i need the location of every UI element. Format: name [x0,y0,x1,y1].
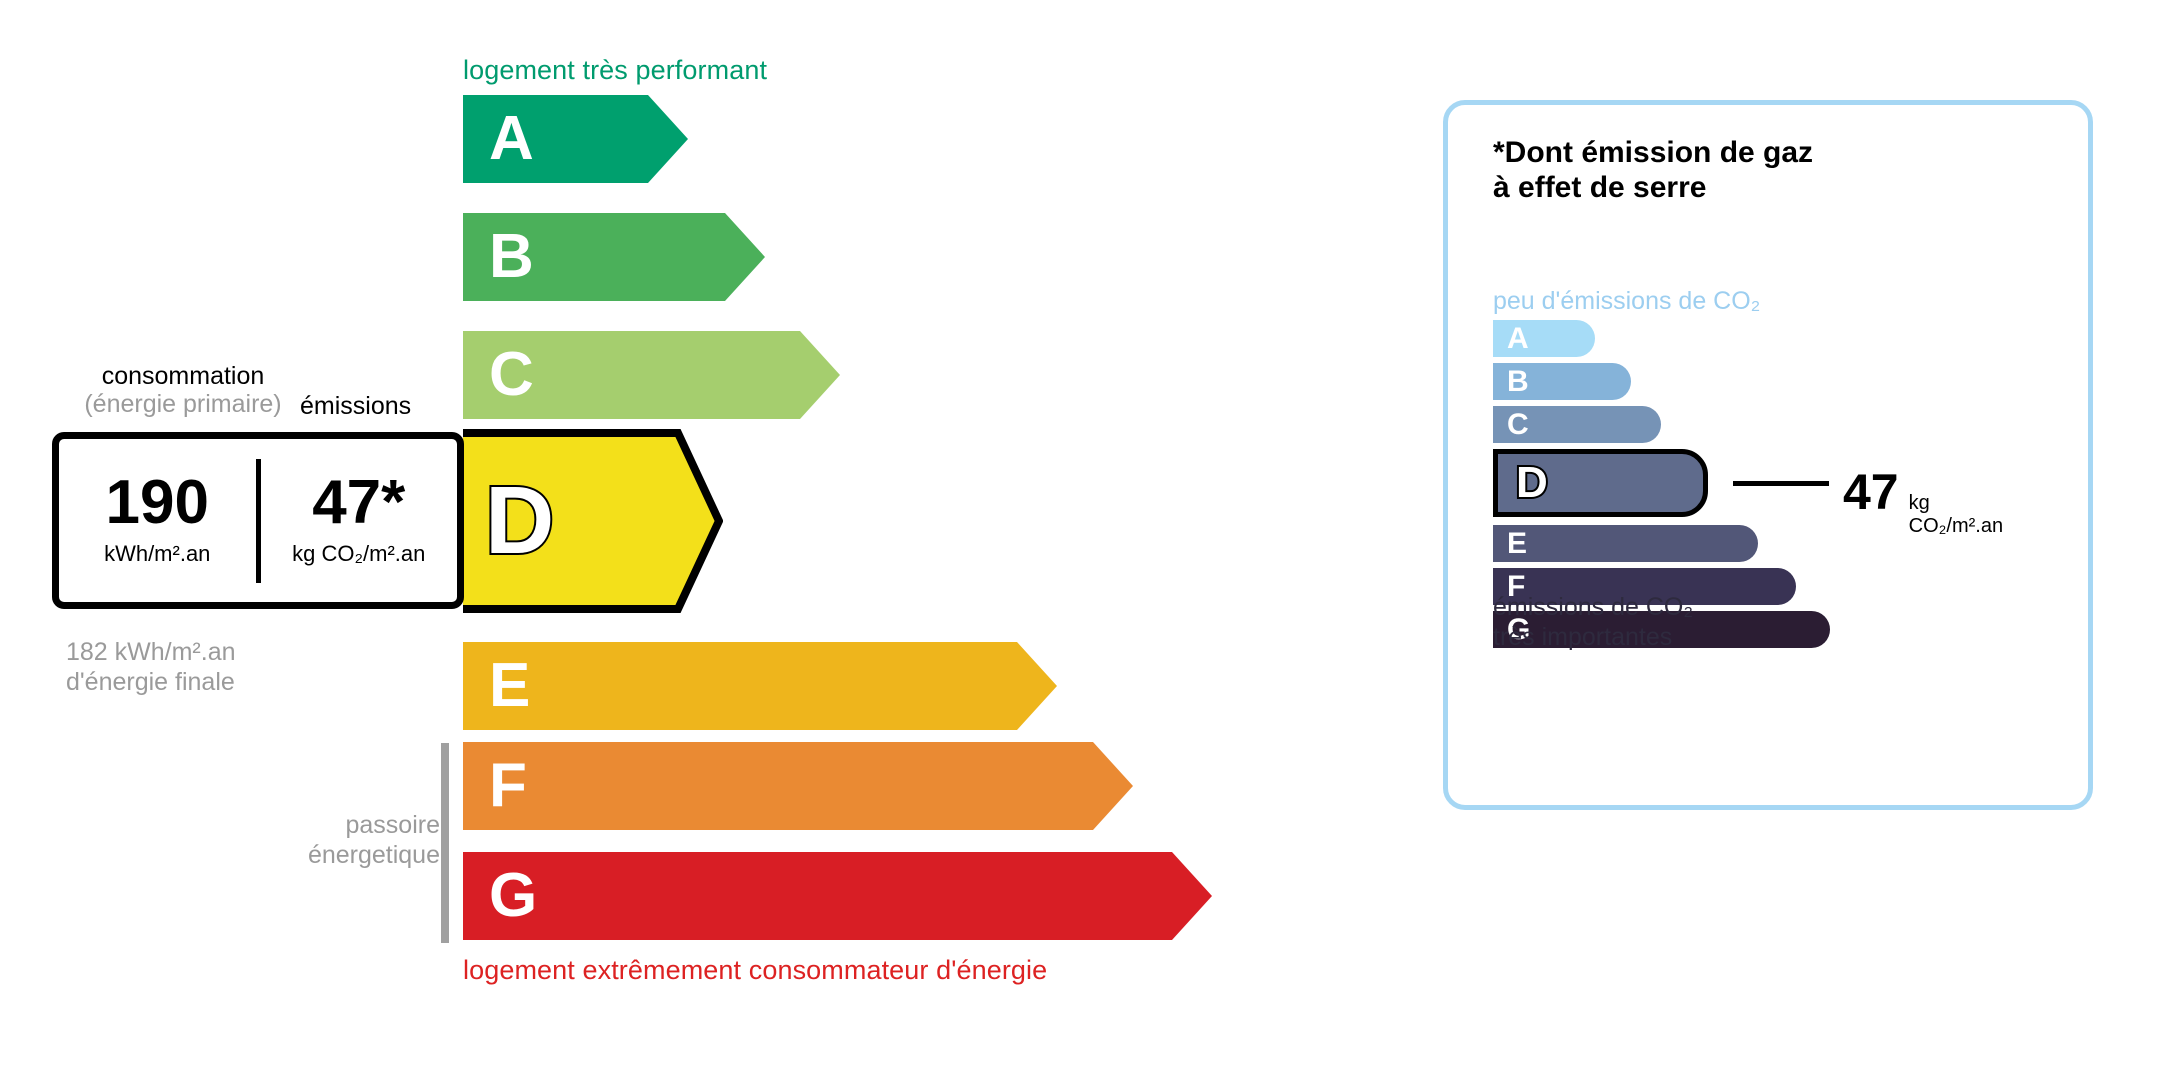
passoire-label: passoire énergetique [200,810,440,870]
energy-class-row-c[interactable]: C [463,331,840,419]
co2-scale-bottom-label-line2: très importantes [1493,623,1693,653]
emissions-label: émissions [300,392,480,421]
energy-consumption-cell: 190 kWh/m².an [59,474,256,567]
final-energy-label: 182 kWh/m².an d'énergie finale [66,637,236,697]
energy-consumption-value: 190 [59,474,256,533]
final-energy-caption: d'énergie finale [66,667,236,697]
energy-class-row-a[interactable]: A [463,95,688,183]
energy-arrow-e: E [463,642,1057,730]
energy-class-letter-g: G [489,865,537,927]
energy-arrow-d-selected: D [463,429,723,613]
co2-emission-value: 47* [261,474,458,533]
co2-bar-c: C [1493,406,1661,443]
co2-callout-value: 47 [1843,467,1899,517]
energy-class-letter-a: A [489,108,534,170]
co2-emission-unit: kg CO₂/m².an [261,541,458,567]
energy-performance-scale: logement très performant A B C [0,0,1400,1079]
co2-class-row-e[interactable]: E [1493,525,1830,562]
energy-arrow-f: F [463,742,1133,830]
co2-bar-d-selected: D [1493,449,1708,517]
co2-class-row-b[interactable]: B [1493,363,1830,400]
passoire-label-line2: énergetique [200,840,440,870]
co2-scale-bottom-label-line1: émissions de CO₂ [1493,593,1693,623]
energy-class-row-b[interactable]: B [463,213,765,301]
co2-callout-unit: kg CO₂/m².an [1909,492,2003,538]
energy-class-row-d[interactable]: D [463,429,723,613]
energy-arrow-g: G [463,852,1212,940]
consommation-label: consommation (énergie primaire) [58,362,308,418]
co2-class-row-c[interactable]: C [1493,406,1830,443]
co2-panel-title-line1: *Dont émission de gaz [1493,135,1813,170]
co2-class-letter-d: D [1516,461,1548,505]
co2-bar-b: B [1493,363,1631,400]
energy-class-row-e[interactable]: E [463,642,1057,730]
co2-scale-top-label: peu d'émissions de CO₂ [1493,287,1760,316]
co2-class-row-a[interactable]: A [1493,320,1830,357]
energy-class-row-g[interactable]: G [463,852,1212,940]
consumption-summary-box: 190 kWh/m².an 47* kg CO₂/m².an [52,432,464,609]
scale-top-label: logement très performant [463,55,767,86]
co2-class-letter-a: A [1507,324,1529,354]
energy-class-letter-d: D [485,473,554,569]
co2-class-letter-c: C [1507,410,1529,440]
final-energy-value: 182 kWh/m².an [66,637,236,667]
passoire-label-line1: passoire [200,810,440,840]
energy-class-letter-f: F [489,755,527,817]
co2-scale-bottom-label: émissions de CO₂ très importantes [1493,593,1693,652]
consommation-label-main: consommation [102,362,265,390]
energy-class-letter-c: C [489,344,534,406]
co2-panel-title: *Dont émission de gaz à effet de serre [1493,135,1813,206]
co2-bar-a: A [1493,320,1595,357]
passoire-divider-bar [441,743,449,943]
scale-bottom-label: logement extrêmement consommateur d'éner… [463,955,1047,986]
energy-class-letter-e: E [489,655,530,717]
energy-arrow-c: C [463,331,840,419]
energy-arrow-a: A [463,95,688,183]
energy-class-letter-b: B [489,226,534,288]
energy-class-row-f[interactable]: F [463,742,1133,830]
co2-class-letter-e: E [1507,529,1527,559]
co2-panel-title-line2: à effet de serre [1493,170,1813,205]
consommation-label-sub: (énergie primaire) [58,390,308,418]
callout-leader-line [1733,481,1829,486]
co2-bar-e: E [1493,525,1758,562]
co2-class-row-d[interactable]: D 47 kg CO₂/m².an [1493,449,1830,517]
greenhouse-gas-panel: *Dont émission de gaz à effet de serre p… [1443,100,2093,810]
co2-class-letter-b: B [1507,367,1529,397]
co2-emission-cell: 47* kg CO₂/m².an [261,474,458,567]
energy-arrow-b: B [463,213,765,301]
energy-consumption-unit: kWh/m².an [59,541,256,567]
